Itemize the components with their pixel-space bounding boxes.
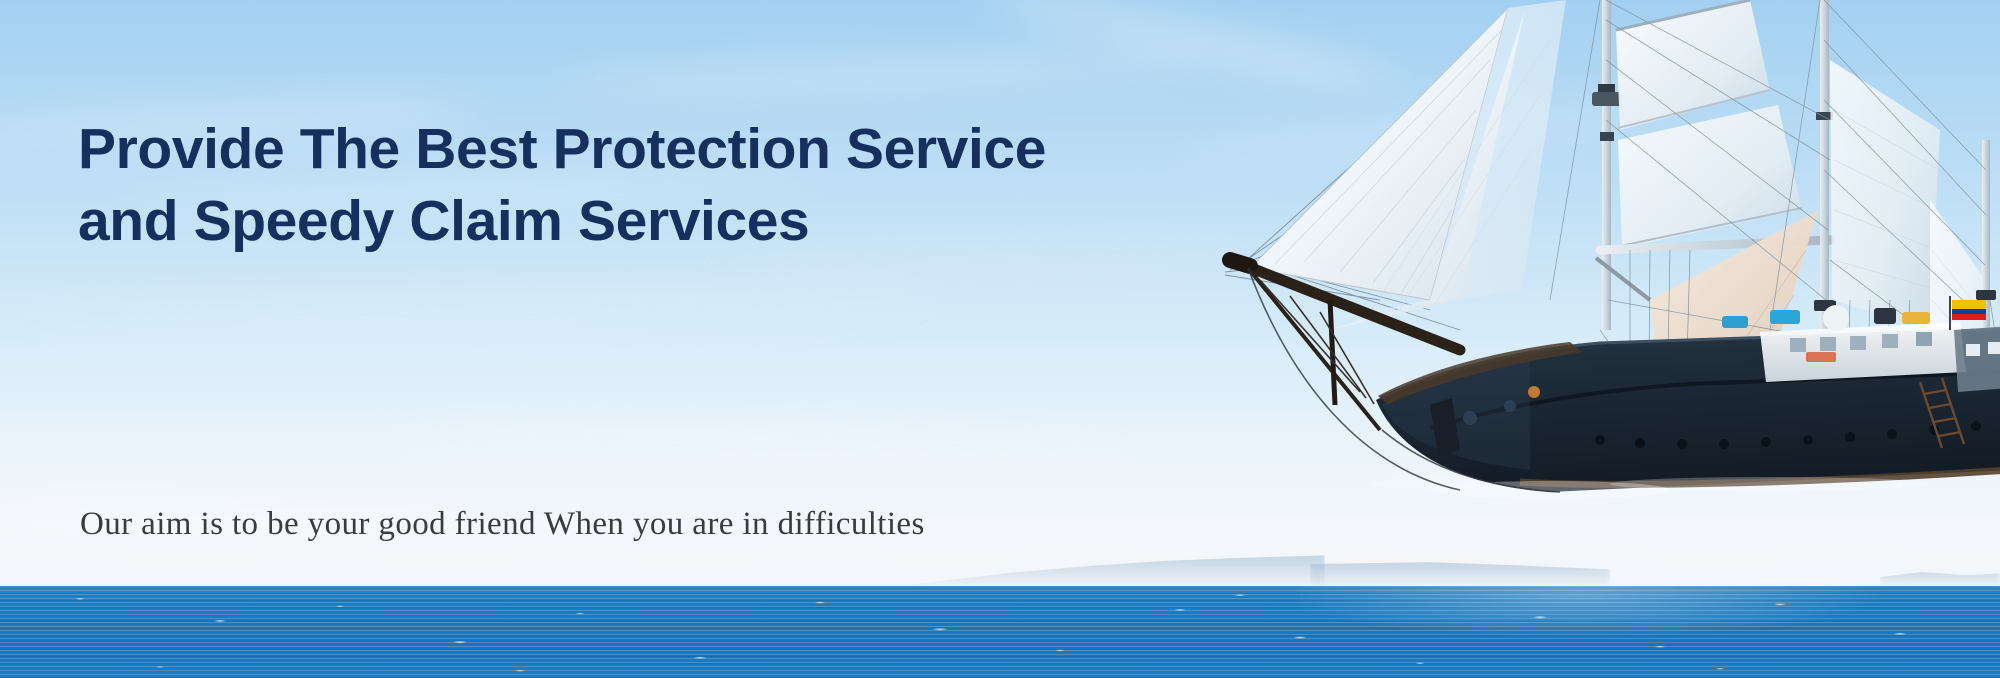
headline-line-2: and Speedy Claim Services bbox=[78, 185, 1046, 257]
page-title: Provide The Best Protection Service and … bbox=[78, 113, 1046, 257]
page-subtitle: Our aim is to be your good friend When y… bbox=[80, 504, 925, 544]
cloud-wisp bbox=[380, 423, 1140, 466]
hero-banner: Provide The Best Protection Service and … bbox=[0, 0, 2000, 678]
sky-background bbox=[0, 0, 2000, 586]
distant-island bbox=[905, 552, 1325, 586]
cloud-wisp bbox=[980, 0, 1399, 103]
distant-island bbox=[1880, 566, 2000, 586]
sea-background bbox=[0, 586, 2000, 678]
sea-sun-glint bbox=[1300, 586, 2000, 678]
headline-line-1: Provide The Best Protection Service bbox=[78, 113, 1046, 185]
distant-island bbox=[1310, 560, 1610, 586]
cloud-wisp bbox=[560, 49, 1201, 101]
cloud-wisp bbox=[1180, 93, 1700, 173]
cloud-wisp bbox=[30, 292, 930, 332]
